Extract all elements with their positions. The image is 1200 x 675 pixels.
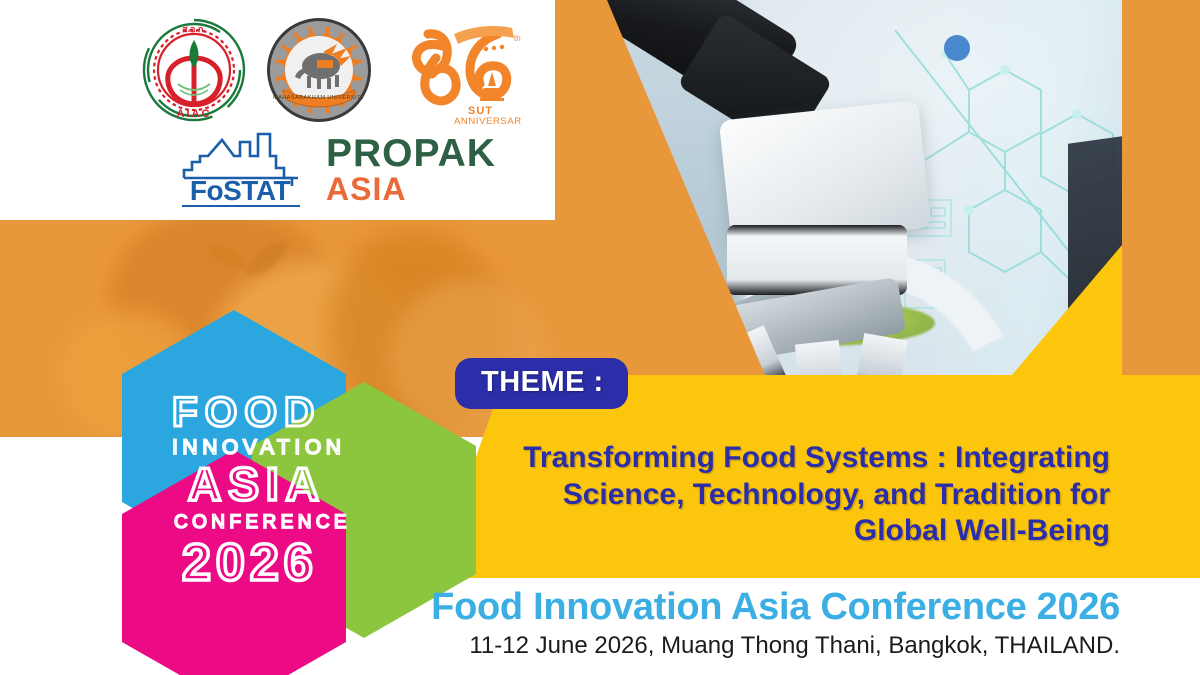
emblem-line-conference: CONFERENCE <box>174 512 351 533</box>
conference-title: Food Innovation Asia Conference 2026 <box>0 588 1120 626</box>
propak-wordmark: PROPAK <box>326 136 522 173</box>
msu-banner-text: MAHASARAKHAM UNIVERSITY <box>273 95 365 101</box>
emblem-line-food: FOOD <box>172 392 321 435</box>
emblem-line-asia: ASIA <box>188 458 326 510</box>
emblem-line-year: 2026 <box>182 534 318 592</box>
theme-text: Transforming Food Systems : Integrating … <box>470 440 1110 550</box>
conference-banner: ส.อ.ก. AIAC <box>0 0 1200 675</box>
fostat-label: FoSTAT <box>190 175 291 206</box>
aiac-logo: ส.อ.ก. AIAC <box>138 14 250 126</box>
orange-right-column <box>1122 0 1200 437</box>
sut-anniversary-logo: th SUT ANNIVERSARY <box>402 18 522 128</box>
sut-ordinal: th <box>514 34 521 43</box>
conference-date-location: 11-12 June 2026, Muang Thong Thani, Bang… <box>0 634 1120 658</box>
partner-logo-row: ส.อ.ก. AIAC <box>130 6 550 211</box>
theme-line-2: Science, Technology, and Tradition for <box>470 477 1110 514</box>
theme-badge: THEME : <box>455 358 628 409</box>
emblem-wordmark: FOOD INNOVATION ASIA CONFERENCE 2026 <box>168 392 428 592</box>
microscope-photo <box>555 0 1122 375</box>
aiac-thai-text: ส.อ.ก. <box>182 24 206 34</box>
theme-line-3: Global Well-Being <box>470 513 1110 550</box>
mahasarakham-university-logo: MAHASARAKHAM UNIVERSITY <box>265 16 373 124</box>
theme-line-1: Transforming Food Systems : Integrating <box>470 440 1110 477</box>
propak-asia-logo: PROPAK ASIA <box>326 136 522 206</box>
sut-label-line2: ANNIVERSARY <box>454 116 522 127</box>
fostat-logo: FoSTAT <box>170 128 310 208</box>
aiac-label: AIAC <box>177 108 212 120</box>
emblem-line-innovation: INNOVATION <box>172 436 346 459</box>
asia-wordmark: ASIA <box>326 173 522 205</box>
